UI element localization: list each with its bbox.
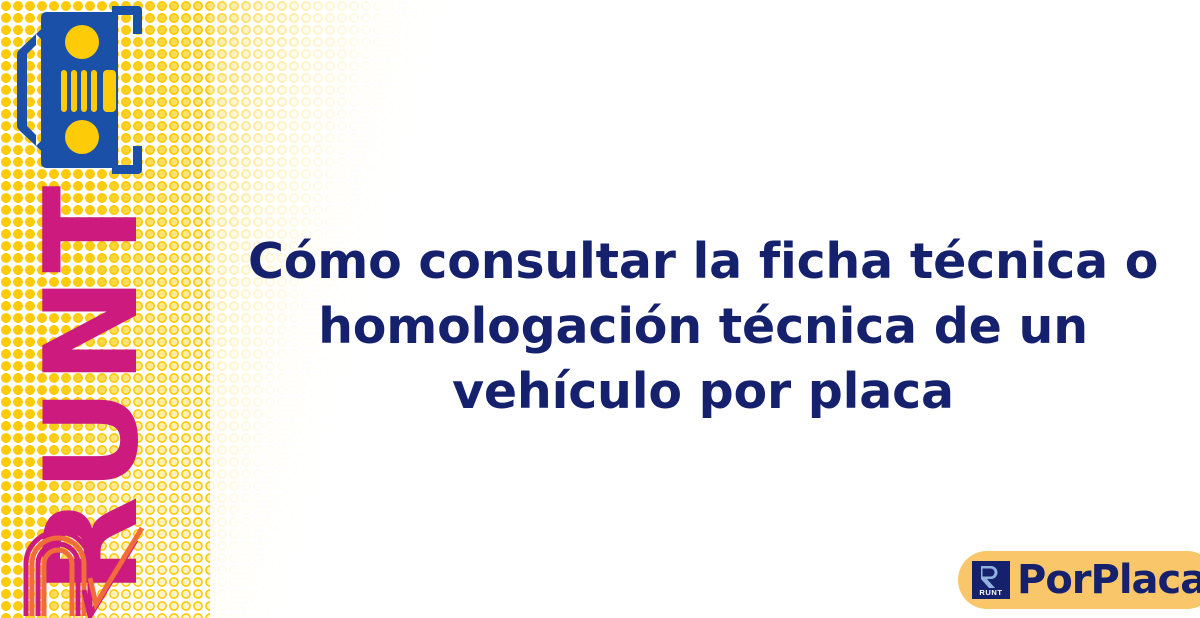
headline-line-3: vehículo por placa	[248, 359, 1158, 424]
arch-check-icon	[8, 512, 150, 618]
runt-badge-label: RUNT	[979, 589, 1002, 597]
headline-line-1: Cómo consultar la ficha técnica o	[248, 229, 1158, 294]
runt-badge: RUNT	[972, 561, 1010, 599]
page-title: Cómo consultar la ficha técnica o homolo…	[248, 229, 1158, 424]
porplaca-wordmark: PorPlaca	[1017, 560, 1200, 600]
car-front-icon	[6, 4, 146, 176]
vertical-runt-wordmark: RUNT	[33, 233, 153, 543]
promo-banner: RUNT Cómo consultar la ficha técnica o h…	[0, 0, 1200, 618]
porplaca-logo[interactable]: RUNT PorPlaca	[958, 551, 1200, 609]
headline-line-2: homologación técnica de un	[248, 294, 1158, 359]
runt-r-icon	[972, 564, 1002, 588]
